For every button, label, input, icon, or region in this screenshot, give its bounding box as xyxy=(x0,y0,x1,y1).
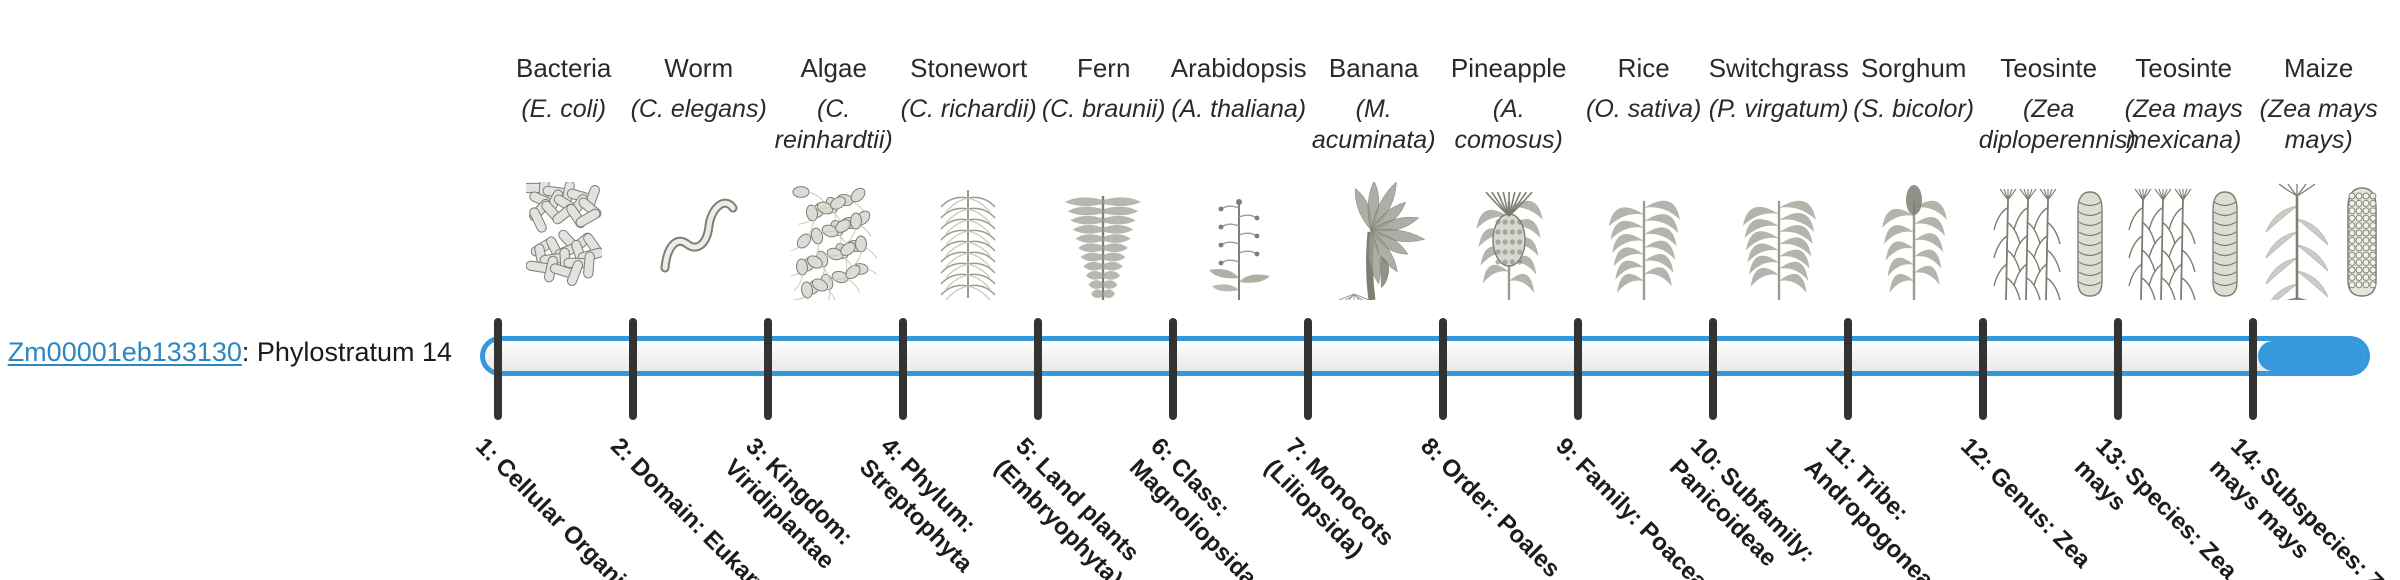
gene-label-separator: : xyxy=(242,337,257,367)
pineapple-icon xyxy=(1467,182,1551,300)
phylostratum-tick-9[interactable] xyxy=(1574,318,1582,420)
species-latin-name: (S. bicolor) xyxy=(1844,94,1984,125)
species-common-name: Switchgrass xyxy=(1709,52,1849,84)
teosinte-ear-icon xyxy=(2209,182,2243,300)
species-common-name: Worm xyxy=(629,52,769,84)
species-latin-name: (C. reinhardtii) xyxy=(764,94,904,156)
fern-icon xyxy=(1059,182,1149,300)
rice-icon xyxy=(1599,182,1689,300)
species-column-banana-6: Banana(M. acuminata) xyxy=(1304,52,1444,156)
species-column-rice-8: Rice(O. sativa) xyxy=(1574,52,1714,125)
phylostratum-rank: Order: Poales xyxy=(1431,448,1566,580)
phylostratum-tick-7[interactable] xyxy=(1304,318,1312,420)
species-common-name: Algae xyxy=(764,52,904,84)
phylostratum-tick-13[interactable] xyxy=(2114,318,2122,420)
species-column-algae-2: Algae(C. reinhardtii) xyxy=(764,52,904,156)
species-latin-name: (E. coli) xyxy=(494,94,634,125)
species-column-sorghum-10: Sorghum(S. bicolor) xyxy=(1844,52,1984,125)
banana-icon xyxy=(1320,182,1428,300)
switchgrass-icon xyxy=(1733,182,1825,300)
species-common-name: Maize xyxy=(2249,52,2389,84)
phylostratum-tick-3[interactable] xyxy=(764,318,772,420)
species-latin-name: (C. elegans) xyxy=(629,94,769,125)
species-latin-name: (Zea mays mays) xyxy=(2249,94,2389,156)
species-common-name: Rice xyxy=(1574,52,1714,84)
phylostratum-figure: Zm00001eb133130: Phylostratum 14 Bacteri… xyxy=(0,0,2400,580)
species-column-switchgrass-9: Switchgrass(P. virgatum) xyxy=(1709,52,1849,125)
species-common-name: Teosinte xyxy=(2114,52,2254,84)
phylostratum-rank: Monocots (Liliopsida) xyxy=(1259,448,1399,564)
phylostratum-tick-4[interactable] xyxy=(899,318,907,420)
species-column-teosinte-12: Teosinte(Zea mays mexicana) xyxy=(2114,52,2254,156)
species-latin-name: (A. thaliana) xyxy=(1169,94,1309,125)
phylostratum-tick-5[interactable] xyxy=(1034,318,1042,420)
species-common-name: Teosinte xyxy=(1979,52,2119,84)
phylostratum-tick-12[interactable] xyxy=(1979,318,1987,420)
teosinte-plant-icon xyxy=(2125,182,2203,300)
phylostratum-tick-8[interactable] xyxy=(1439,318,1447,420)
worm-icon xyxy=(653,182,745,300)
phylostratum-tick-2[interactable] xyxy=(629,318,637,420)
maize-plant-icon xyxy=(2257,182,2337,300)
species-common-name: Banana xyxy=(1304,52,1444,84)
species-common-name: Sorghum xyxy=(1844,52,1984,84)
species-column-arabidopsis-5: Arabidopsis(A. thaliana) xyxy=(1169,52,1309,125)
species-latin-name: (A. comosus) xyxy=(1439,94,1579,156)
species-common-name: Stonewort xyxy=(899,52,1039,84)
species-latin-name: (Zea diploperennis) xyxy=(1979,94,2119,156)
phylostratum-tick-10[interactable] xyxy=(1709,318,1717,420)
track-fill-segment xyxy=(2258,341,2367,371)
species-illustration-13 xyxy=(2239,172,2399,300)
species-latin-name: (C. braunii) xyxy=(1034,94,1174,125)
species-column-fern-4: Fern(C. braunii) xyxy=(1034,52,1174,125)
phylostratum-value: Phylostratum 14 xyxy=(257,337,452,367)
gene-phylostratum-label: Zm00001eb133130: Phylostratum 14 xyxy=(0,335,452,369)
species-latin-name: (C. richardii) xyxy=(899,94,1039,125)
species-column-pineapple-7: Pineapple(A. comosus) xyxy=(1439,52,1579,156)
species-column-maize-13: Maize(Zea mays mays) xyxy=(2249,52,2389,156)
teosinte-ear-icon xyxy=(2074,182,2108,300)
species-common-name: Pineapple xyxy=(1439,52,1579,84)
bacteria-icon xyxy=(526,182,602,300)
teosinte-plant-icon xyxy=(1990,182,2068,300)
maize-cob-icon xyxy=(2343,182,2381,300)
species-common-name: Arabidopsis xyxy=(1169,52,1309,84)
gene-id-link[interactable]: Zm00001eb133130 xyxy=(8,337,242,367)
algae-icon xyxy=(791,184,877,300)
phylostratum-tick-14[interactable] xyxy=(2249,318,2257,420)
species-latin-name: (M. acuminata) xyxy=(1304,94,1444,156)
species-column-bacteria-0: Bacteria(E. coli) xyxy=(494,52,634,125)
sorghum-icon xyxy=(1873,182,1955,300)
species-latin-name: (O. sativa) xyxy=(1574,94,1714,125)
phylostratum-tick-11[interactable] xyxy=(1844,318,1852,420)
arabidopsis-icon xyxy=(1197,182,1281,300)
species-column-teosinte-11: Teosinte(Zea diploperennis) xyxy=(1979,52,2119,156)
phylostratum-tick-1[interactable] xyxy=(494,318,502,420)
species-latin-name: (Zea mays mexicana) xyxy=(2114,94,2254,156)
species-column-stonewort-3: Stonewort(C. richardii) xyxy=(899,52,1039,125)
phylostratum-tick-6[interactable] xyxy=(1169,318,1177,420)
species-common-name: Bacteria xyxy=(494,52,634,84)
stonewort-icon xyxy=(930,182,1008,300)
species-latin-name: (P. virgatum) xyxy=(1709,94,1849,125)
species-column-worm-1: Worm(C. elegans) xyxy=(629,52,769,125)
species-common-name: Fern xyxy=(1034,52,1174,84)
